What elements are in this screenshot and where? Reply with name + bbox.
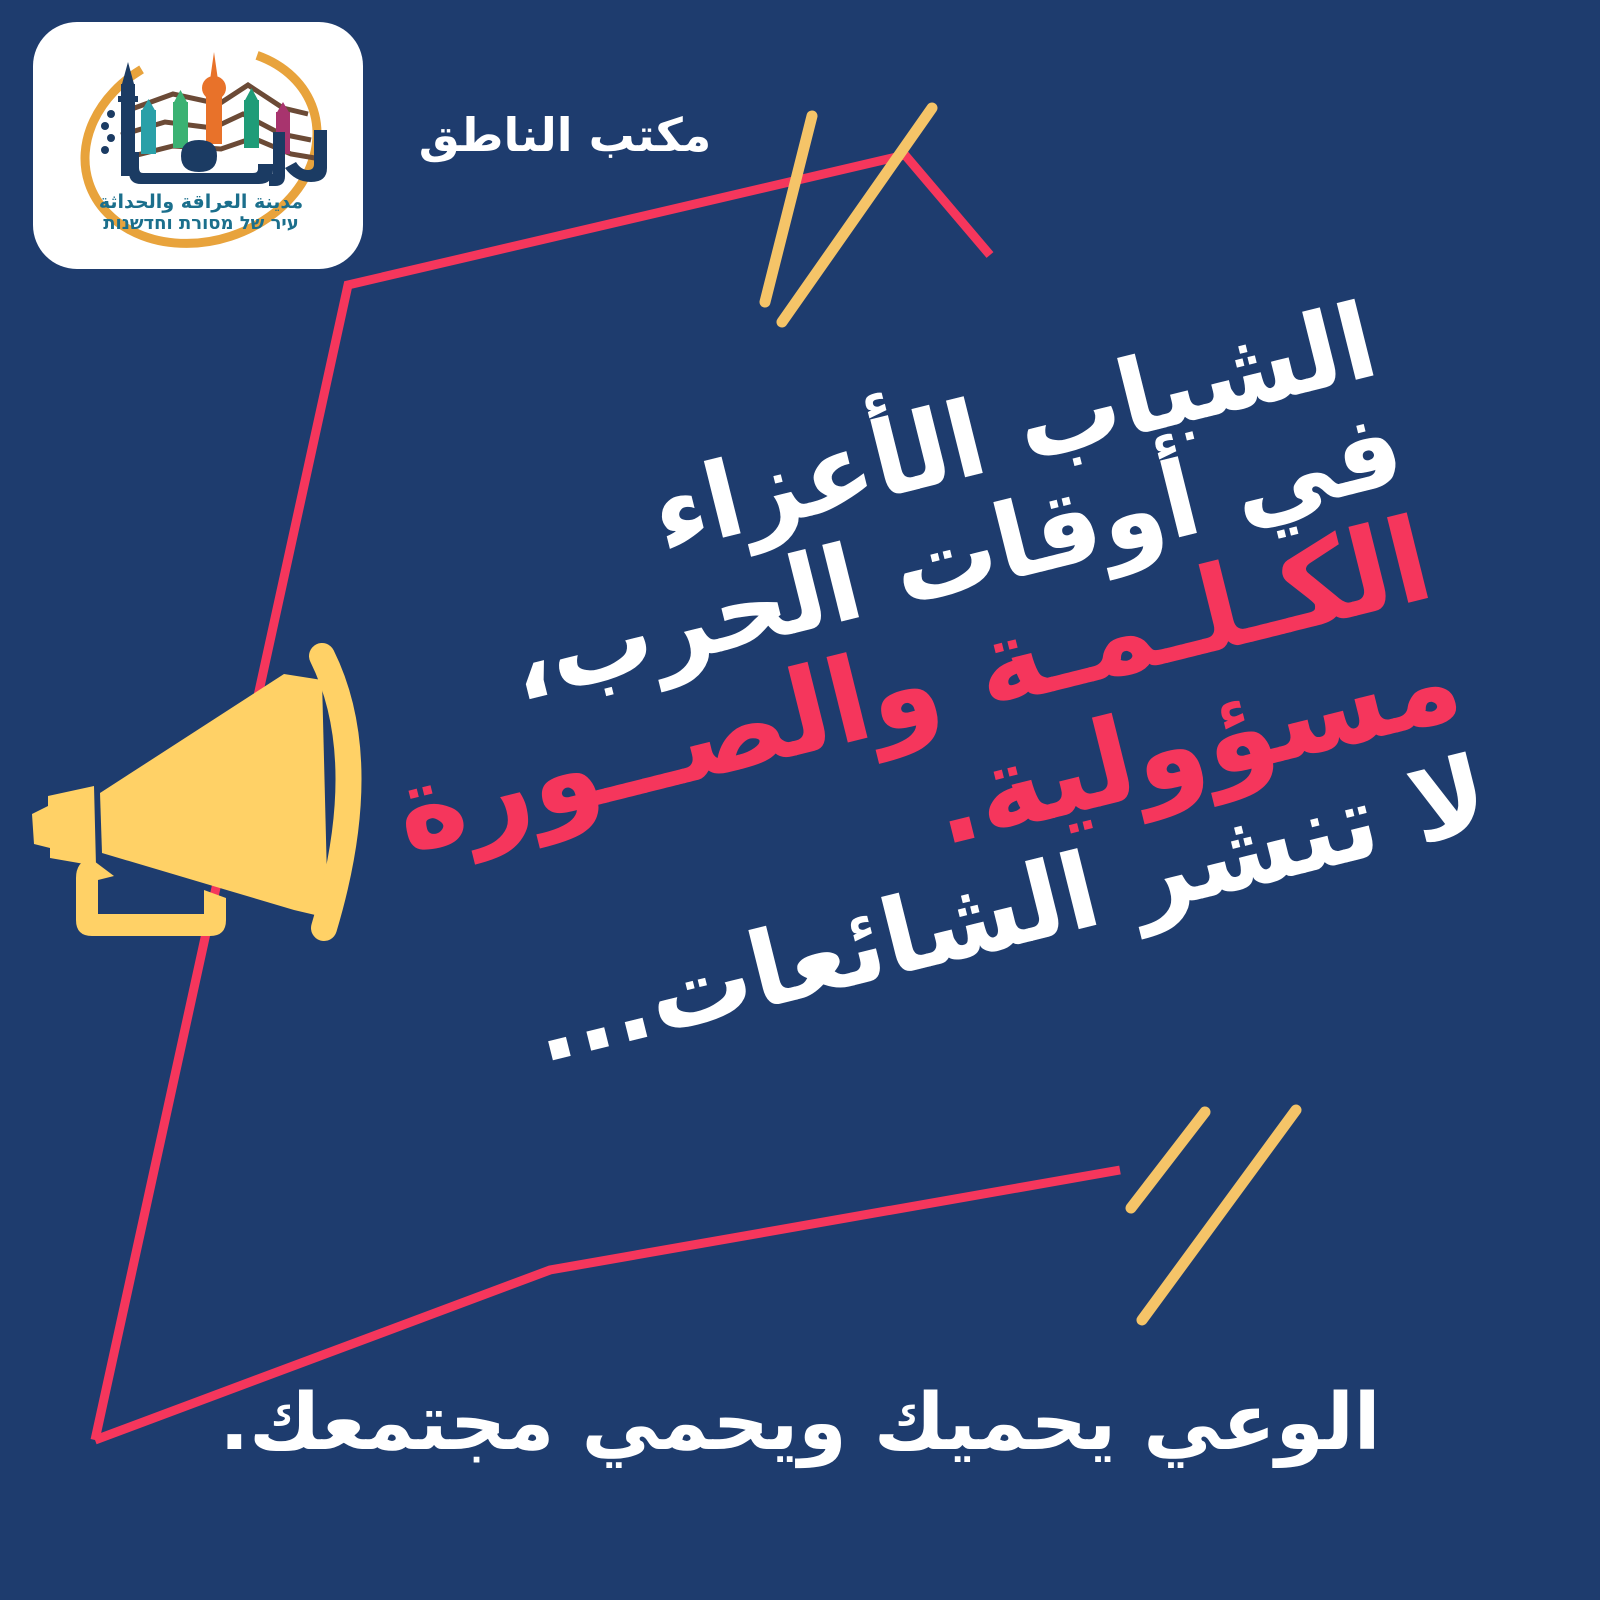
logo-tagline-arabic: مدينة العراقة والحداثة (99, 191, 303, 213)
logo-pillar-teal2 (244, 100, 259, 148)
slash-top-left-icon (765, 116, 812, 302)
slash-bottom-left-icon (1131, 1112, 1205, 1208)
logo-tagline-hebrew: עיר של מסורת וחדשנות (103, 213, 298, 234)
headline-block: الشباب الأعزاء في أوقات الحرب، الكـلـمـة… (331, 285, 1499, 1101)
rahat-municipality-logo: مدينة العراقة والحداثة עיר של מסורת וחדש… (33, 22, 363, 269)
logo-pillar-green (173, 102, 188, 148)
footer-slogan: الوعي يحميك ويحمي مجتمعك. (0, 1378, 1600, 1468)
logo-pillar-teal (141, 110, 156, 154)
page-title: مكتب الناطق (400, 108, 730, 162)
poster-canvas: مدينة العراقة والحداثة עיר של מסורת וחדש… (0, 0, 1600, 1600)
slash-bottom-right-icon (1142, 1110, 1296, 1320)
megaphone-icon (22, 618, 422, 963)
slash-top-right-icon (782, 108, 932, 322)
